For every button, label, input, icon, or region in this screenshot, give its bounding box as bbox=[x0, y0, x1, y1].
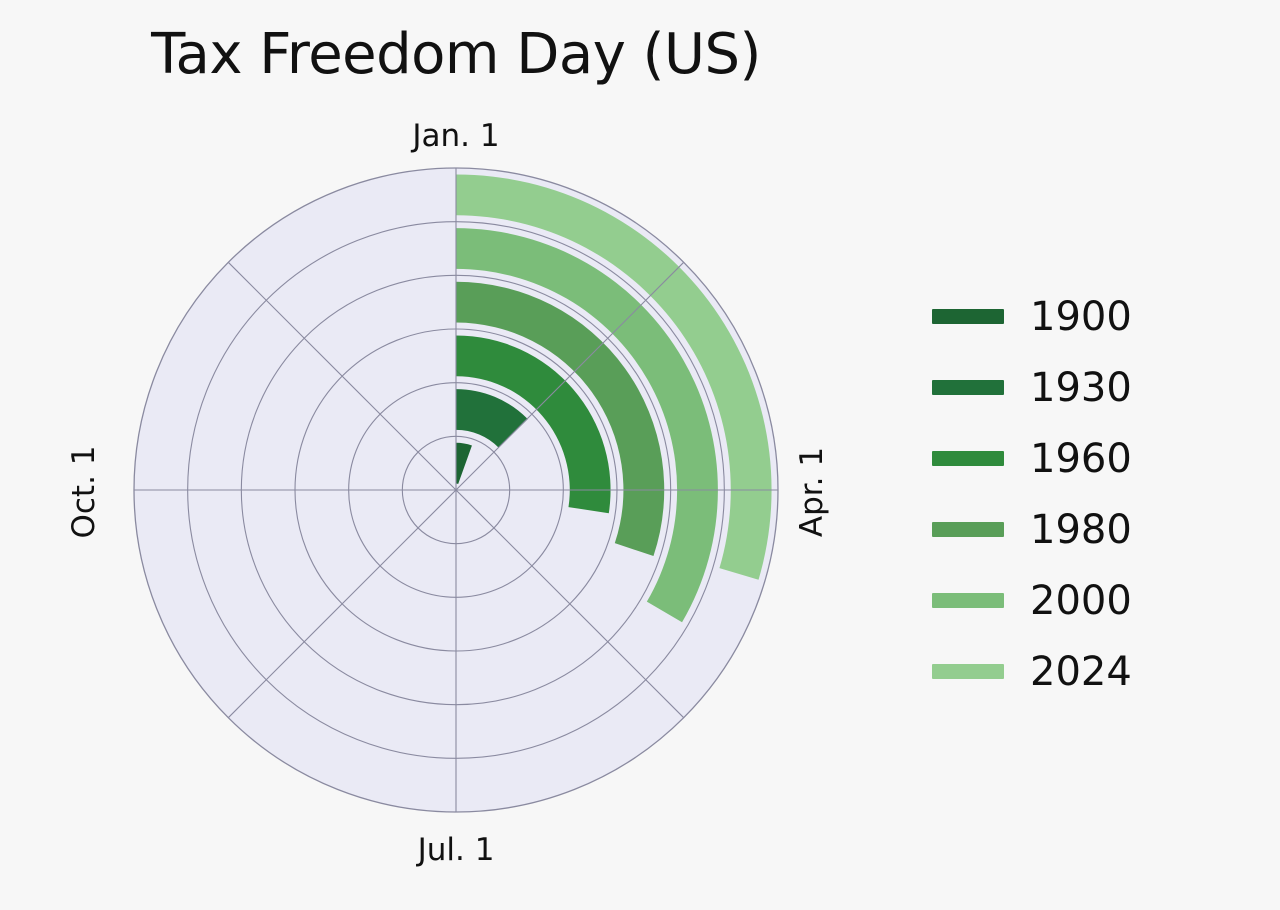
legend-swatch-icon bbox=[932, 451, 1004, 466]
legend-label: 1930 bbox=[1030, 368, 1132, 408]
polar-gridlines bbox=[134, 168, 778, 812]
polar-chart: Jan. 1Apr. 1Jul. 1Oct. 1 bbox=[0, 0, 912, 910]
angle-label-bottom: Jul. 1 bbox=[416, 832, 495, 868]
legend-swatch-icon bbox=[932, 522, 1004, 537]
legend-item-2024[interactable]: 2024 bbox=[932, 636, 1232, 707]
legend-swatch-icon bbox=[932, 380, 1004, 395]
legend-swatch-icon bbox=[932, 593, 1004, 608]
legend-swatch-icon bbox=[932, 664, 1004, 679]
legend-label: 1900 bbox=[1030, 297, 1132, 337]
legend-item-1960[interactable]: 1960 bbox=[932, 423, 1232, 494]
chart-legend: 190019301960198020002024 bbox=[932, 281, 1232, 707]
angle-label-left: Oct. 1 bbox=[66, 445, 102, 538]
legend-swatch-icon bbox=[932, 309, 1004, 324]
legend-item-1900[interactable]: 1900 bbox=[932, 281, 1232, 352]
legend-label: 2024 bbox=[1030, 652, 1132, 692]
legend-label: 2000 bbox=[1030, 581, 1132, 621]
angle-label-top: Jan. 1 bbox=[410, 118, 499, 154]
legend-label: 1980 bbox=[1030, 510, 1132, 550]
angle-label-right: Apr. 1 bbox=[794, 447, 830, 537]
legend-label: 1960 bbox=[1030, 439, 1132, 479]
legend-item-1930[interactable]: 1930 bbox=[932, 352, 1232, 423]
legend-item-1980[interactable]: 1980 bbox=[932, 494, 1232, 565]
figure-canvas: Tax Freedom Day (US) Jan. 1Apr. 1Jul. 1O… bbox=[0, 0, 1280, 910]
legend-item-2000[interactable]: 2000 bbox=[932, 565, 1232, 636]
